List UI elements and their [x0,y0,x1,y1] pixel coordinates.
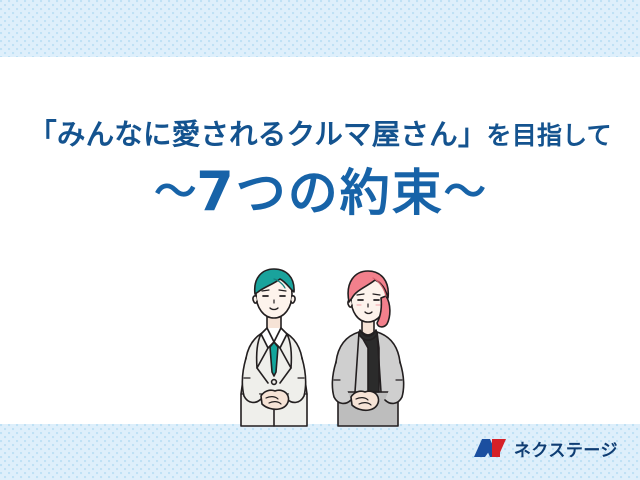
headline-primary: 「みんなに愛されるクルマ屋さん」を目指して [0,118,640,153]
headline-tilde-right: 〜 [444,167,486,216]
headline-block: 「みんなに愛されるクルマ屋さん」を目指して 〜7つの約束〜 [0,118,640,222]
headline-number: 7 [196,160,236,223]
headline-tail-phrase: を目指して [487,122,612,150]
headline-secondary: 〜7つの約束〜 [0,163,640,222]
headline-promise-word: つの約束 [236,164,444,222]
top-decorative-band [0,0,640,57]
nextage-n-mark-icon [473,437,507,464]
promo-banner: 「みんなに愛されるクルマ屋さん」を目指して 〜7つの約束〜 [0,0,640,480]
staff-illustration [228,268,418,428]
nextage-logo: ネクステージ [473,437,618,464]
headline-quoted-phrase: 「みんなに愛されるクルマ屋さん」 [28,119,486,151]
female-staff-figure [332,271,403,426]
male-staff-figure [241,269,307,426]
headline-tilde-left: 〜 [154,167,196,216]
nextage-logo-text: ネクステージ [514,441,618,461]
